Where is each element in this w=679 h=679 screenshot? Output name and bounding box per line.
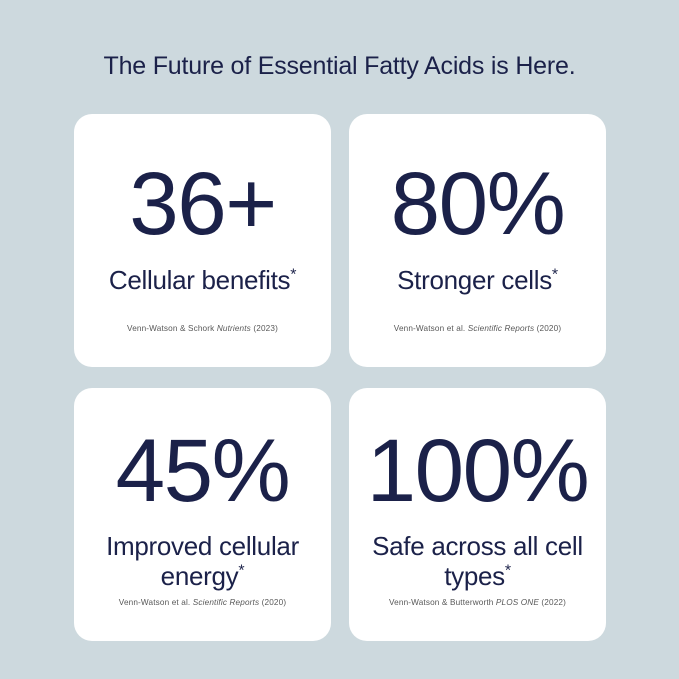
citation-authors: Venn-Watson & Butterworth	[389, 598, 493, 607]
citation-year: (2020)	[262, 598, 287, 607]
stat-number: 100%	[367, 426, 589, 515]
stat-card-grid: 36+ Cellular benefits* Venn-Watson & Sch…	[74, 114, 606, 641]
asterisk-marker: *	[505, 563, 511, 580]
citation-journal: Nutrients	[217, 324, 251, 333]
stat-number: 80%	[391, 159, 565, 248]
citation-journal: PLOS ONE	[496, 598, 539, 607]
stat-card-stronger-cells: 80% Stronger cells* Venn-Watson et al. S…	[349, 114, 606, 367]
stat-card-safe-cell-types: 100% Safe across all cell types* Venn-Wa…	[349, 388, 606, 641]
citation: Venn-Watson et al. Scientific Reports (2…	[74, 598, 331, 607]
citation-journal: Scientific Reports	[468, 324, 534, 333]
stat-label-text: Cellular benefits	[109, 265, 290, 295]
citation-year: (2020)	[537, 324, 562, 333]
asterisk-marker: *	[290, 266, 296, 283]
citation: Venn-Watson & Butterworth PLOS ONE (2022…	[349, 598, 606, 607]
stat-label-text: Safe across all cell types	[372, 531, 583, 591]
citation-year: (2023)	[253, 324, 278, 333]
stat-number: 45%	[116, 426, 290, 515]
asterisk-marker: *	[552, 266, 558, 283]
citation-journal: Scientific Reports	[193, 598, 259, 607]
stat-label: Improved cellular energy*	[84, 531, 321, 591]
citation-year: (2022)	[541, 598, 566, 607]
stat-label: Cellular benefits*	[109, 265, 296, 295]
stat-label-text: Stronger cells	[397, 265, 552, 295]
asterisk-marker: *	[238, 563, 244, 580]
stat-card-cellular-benefits: 36+ Cellular benefits* Venn-Watson & Sch…	[74, 114, 331, 367]
citation-authors: Venn-Watson & Schork	[127, 324, 214, 333]
stat-card-cellular-energy: 45% Improved cellular energy* Venn-Watso…	[74, 388, 331, 641]
infographic-page: The Future of Essential Fatty Acids is H…	[0, 0, 679, 679]
stat-number: 36+	[129, 159, 275, 248]
stat-label-text: Improved cellular energy	[106, 531, 299, 591]
citation: Venn-Watson & Schork Nutrients (2023)	[74, 324, 331, 333]
page-title: The Future of Essential Fatty Acids is H…	[0, 52, 679, 81]
stat-label: Stronger cells*	[397, 265, 558, 295]
citation-authors: Venn-Watson et al.	[119, 598, 191, 607]
stat-label: Safe across all cell types*	[359, 531, 596, 591]
citation: Venn-Watson et al. Scientific Reports (2…	[349, 324, 606, 333]
citation-authors: Venn-Watson et al.	[394, 324, 466, 333]
